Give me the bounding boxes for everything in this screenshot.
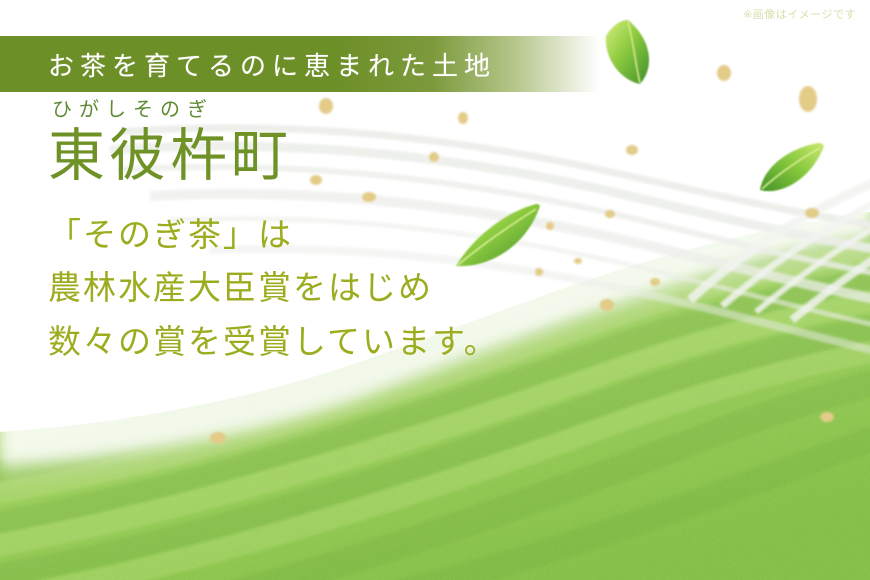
town-name-block: ひがしそのぎ 東彼杵町 [48, 100, 292, 187]
town-name-furigana: ひがしそのぎ [48, 100, 292, 120]
body-copy: 「そのぎ茶」は 農林水産大臣賞をはじめ 数々の賞を受賞しています。 [48, 210, 499, 370]
headline-banner: お茶を育てるのに恵まれた土地 [0, 36, 600, 92]
promo-banner-image: ※画像はイメージです お茶を育てるのに恵まれた土地 ひがしそのぎ 東彼杵町 「そ… [0, 0, 870, 580]
body-copy-line-3: 数々の賞を受賞しています。 [48, 317, 499, 370]
town-name-title: 東彼杵町 [48, 127, 292, 187]
body-copy-line-1: 「そのぎ茶」は [48, 210, 499, 263]
headline-banner-text: お茶を育てるのに恵まれた土地 [48, 46, 496, 83]
leaf-right-upper [760, 143, 824, 191]
leaf-top-center [606, 20, 649, 84]
image-disclaimer-note: ※画像はイメージです [743, 6, 856, 22]
light-streaks [690, 180, 870, 320]
body-copy-line-2: 農林水産大臣賞をはじめ [48, 263, 499, 316]
